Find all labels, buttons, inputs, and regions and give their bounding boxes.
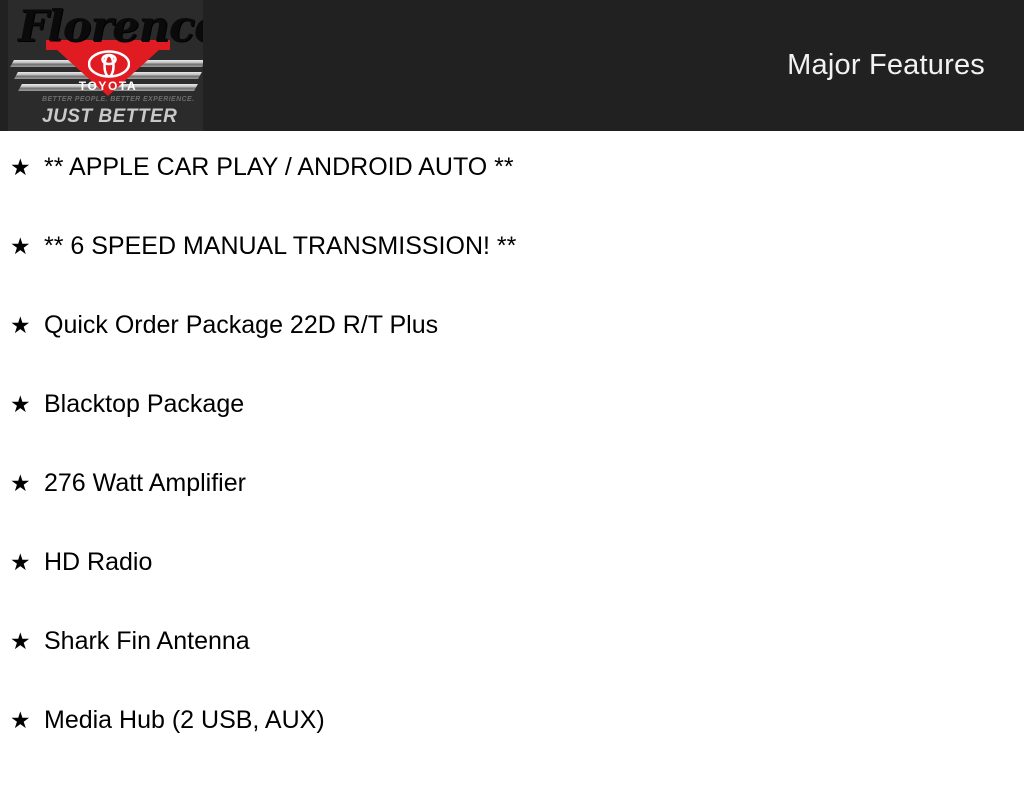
feature-label: Blacktop Package xyxy=(44,392,244,417)
star-icon: ★ xyxy=(10,236,44,259)
major-features-list: ★** APPLE CAR PLAY / ANDROID AUTO **★** … xyxy=(0,131,1024,787)
toyota-wordmark: TOYOTA xyxy=(46,79,170,93)
star-icon: ★ xyxy=(10,710,44,733)
star-icon: ★ xyxy=(10,157,44,180)
feature-list-item: ★Blacktop Package xyxy=(0,392,1024,471)
feature-list-item: ★Media Hub (2 USB, AUX) xyxy=(0,708,1024,787)
logo-tagline-small: BETTER PEOPLE. BETTER EXPERIENCE. xyxy=(42,96,202,103)
page-header: TOYOTA Florence BETTER PEOPLE. BETTER EX… xyxy=(0,0,1024,131)
feature-list-item: ★Quick Order Package 22D R/T Plus xyxy=(0,313,1024,392)
dealer-logo-artwork: TOYOTA Florence BETTER PEOPLE. BETTER EX… xyxy=(8,0,203,131)
feature-list-item: ★** 6 SPEED MANUAL TRANSMISSION! ** xyxy=(0,234,1024,313)
feature-label: HD Radio xyxy=(44,550,152,575)
feature-label: Quick Order Package 22D R/T Plus xyxy=(44,313,438,338)
logo-tagline-big: JUST BETTER xyxy=(42,106,202,128)
feature-label: ** 6 SPEED MANUAL TRANSMISSION! ** xyxy=(44,234,516,259)
feature-list-item: ★** APPLE CAR PLAY / ANDROID AUTO ** xyxy=(0,131,1024,234)
feature-list-item: ★276 Watt Amplifier xyxy=(0,471,1024,550)
star-icon: ★ xyxy=(10,394,44,417)
feature-label: Shark Fin Antenna xyxy=(44,629,250,654)
star-icon: ★ xyxy=(10,315,44,338)
dealer-name-script: Florence xyxy=(18,2,198,52)
feature-label: 276 Watt Amplifier xyxy=(44,471,246,496)
page-title: Major Features xyxy=(787,0,985,131)
feature-list-item: ★Shark Fin Antenna xyxy=(0,629,1024,708)
feature-label: ** APPLE CAR PLAY / ANDROID AUTO ** xyxy=(44,155,514,180)
feature-label: Media Hub (2 USB, AUX) xyxy=(44,708,325,733)
star-icon: ★ xyxy=(10,631,44,654)
dealer-logo[interactable]: TOYOTA Florence BETTER PEOPLE. BETTER EX… xyxy=(8,0,203,131)
star-icon: ★ xyxy=(10,473,44,496)
feature-list-item: ★HD Radio xyxy=(0,550,1024,629)
toyota-emblem-icon xyxy=(88,50,130,78)
star-icon: ★ xyxy=(10,552,44,575)
